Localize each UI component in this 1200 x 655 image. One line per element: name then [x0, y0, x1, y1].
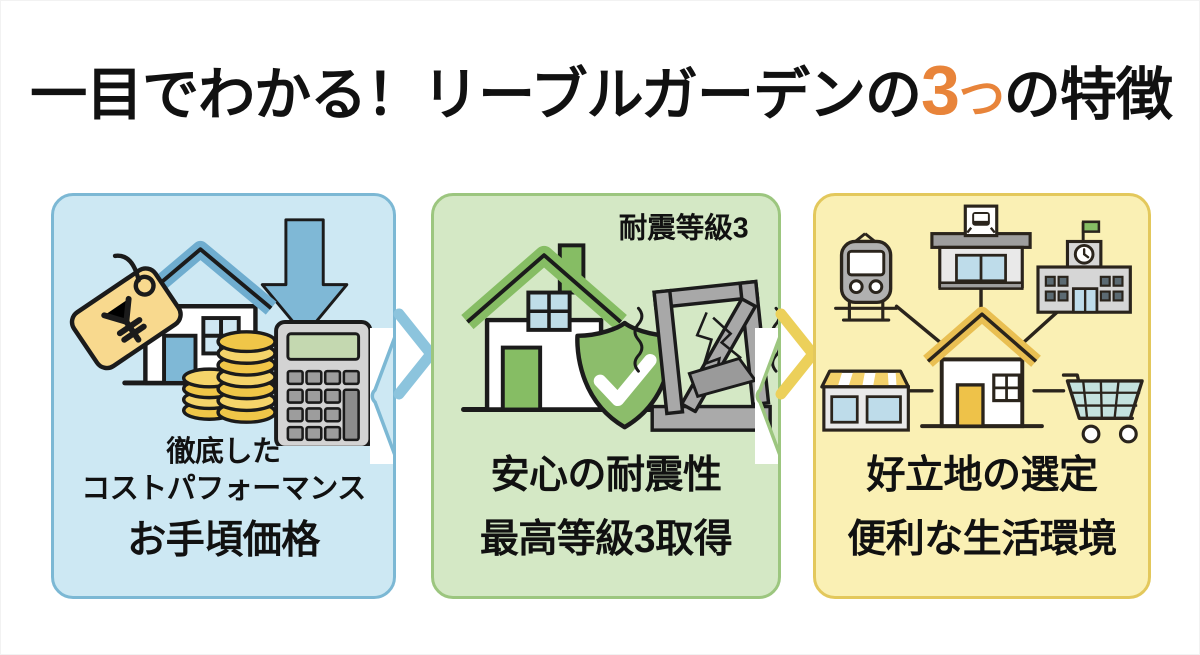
cost-performance-illustration — [54, 196, 393, 446]
panel-3-line-2: 便利な生活環境 — [816, 515, 1148, 565]
calculator-icon — [276, 322, 370, 446]
train-icon — [836, 234, 897, 320]
good-location-illustration — [816, 196, 1148, 451]
title-accent-counter: つ — [959, 72, 1004, 124]
panel-2-line-2: 最高等級3取得 — [434, 515, 778, 565]
infographic-canvas: 一目でわかる！リーブルガーデンの3つの特徴 — [0, 0, 1200, 655]
down-arrow-icon — [262, 220, 347, 336]
page-title: 一目でわかる！リーブルガーデンの3つの特徴 — [1, 59, 1200, 124]
panel-2-line-1: 安心の耐震性 — [434, 451, 778, 501]
title-part-1: 一目でわかる！リーブルガーデンの — [30, 63, 921, 127]
panel-good-location[interactable]: 好立地の選定 便利な生活環境 — [813, 193, 1151, 599]
house-icon — [922, 314, 1042, 426]
school-icon — [1038, 222, 1130, 312]
station-icon — [932, 206, 1030, 289]
panel-earthquake-resistance[interactable]: 耐震等級3 安心の耐震性 最高等級3取得 — [431, 193, 781, 599]
shopping-cart-icon — [1064, 375, 1143, 442]
panel-3-line-1: 好立地の選定 — [816, 451, 1148, 501]
panel-1-line-2: コストパフォーマンス — [54, 471, 393, 508]
shop-icon — [822, 371, 908, 430]
panel-1-line-3: お手頃価格 — [54, 516, 393, 566]
panel-2-caption: 安心の耐震性 最高等級3取得 — [434, 451, 778, 565]
title-part-2: の特徴 — [1004, 63, 1172, 127]
panel-2-badge-label: 耐震等級3 — [619, 212, 749, 245]
panel-3-caption: 好立地の選定 便利な生活環境 — [816, 451, 1148, 565]
panel-1-caption: 徹底した コストパフォーマンス お手頃価格 — [54, 434, 393, 566]
earthquake-resistance-illustration: 耐震等級3 — [434, 196, 778, 451]
panel-cost-performance[interactable]: 徹底した コストパフォーマンス お手頃価格 — [51, 193, 396, 599]
panel-1-line-1: 徹底した — [54, 434, 393, 471]
title-accent-number: 3 — [921, 51, 959, 129]
